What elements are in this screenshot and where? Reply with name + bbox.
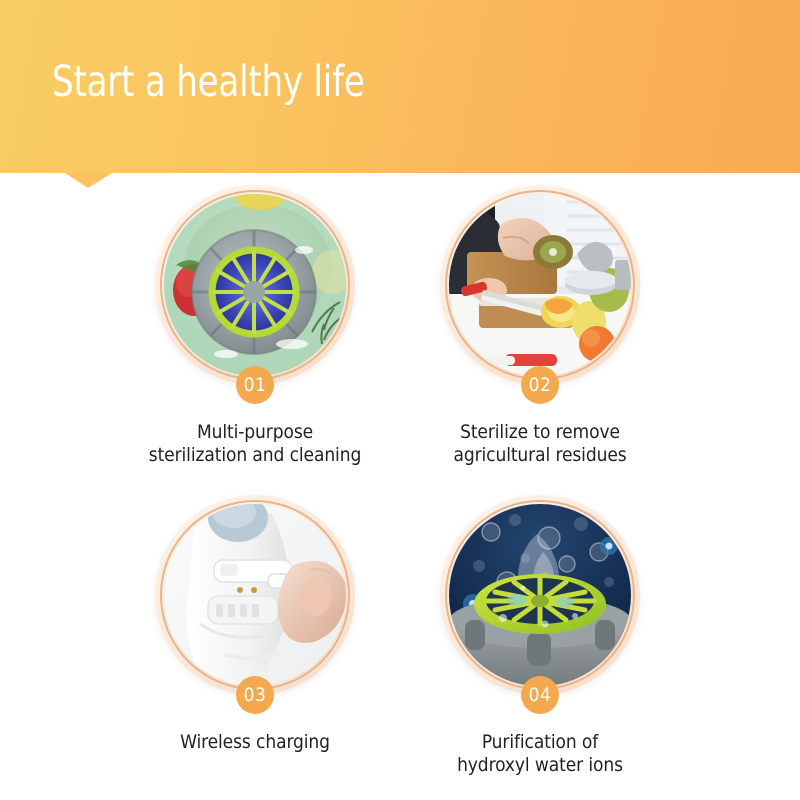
feature-caption-01: Multi-purpose sterilization and cleaning bbox=[105, 421, 405, 467]
caption-line-2: sterilization and cleaning bbox=[105, 444, 405, 467]
magnetic-charging-cable-photo bbox=[164, 504, 346, 686]
feature-badge-02: 02 bbox=[521, 366, 559, 404]
feature-card-01[interactable]: 01 Multi-purpose sterilization and clean… bbox=[105, 185, 405, 467]
caption-line-1: Wireless charging bbox=[105, 731, 405, 754]
feature-badge-01: 01 bbox=[236, 366, 274, 404]
caption-line-1: Multi-purpose bbox=[105, 421, 405, 444]
caption-line-1: Sterilize to remove bbox=[390, 421, 690, 444]
caption-line-2: hydroxyl water ions bbox=[390, 754, 690, 777]
feature-card-04[interactable]: 04 Purification of hydroxyl water ions bbox=[390, 495, 690, 777]
page-title: Start a healthy life bbox=[52, 56, 365, 108]
caption-line-2: agricultural residues bbox=[390, 444, 690, 467]
feature-caption-02: Sterilize to remove agricultural residue… bbox=[390, 421, 690, 467]
feature-circle-03: 03 bbox=[155, 495, 355, 695]
infographic-page: Start a healthy life bbox=[0, 0, 800, 800]
feature-card-02[interactable]: 02 Sterilize to remove agricultural resi… bbox=[390, 185, 690, 467]
feature-caption-03: Wireless charging bbox=[105, 731, 405, 754]
device-underwater-with-bubbles-photo bbox=[449, 504, 631, 686]
feature-badge-03: 03 bbox=[236, 676, 274, 714]
feature-circle-01: 01 bbox=[155, 185, 355, 385]
sterilizer-in-basin-of-vegetables-photo bbox=[164, 194, 346, 376]
feature-caption-04: Purification of hydroxyl water ions bbox=[390, 731, 690, 777]
caption-line-1: Purification of bbox=[390, 731, 690, 754]
feature-circle-04: 04 bbox=[440, 495, 640, 695]
feature-badge-04: 04 bbox=[521, 676, 559, 714]
feature-card-03[interactable]: 03 Wireless charging bbox=[105, 495, 405, 754]
kitchen-fruit-preparation-photo bbox=[449, 194, 631, 376]
header-banner: Start a healthy life bbox=[0, 0, 800, 173]
feature-grid: 01 Multi-purpose sterilization and clean… bbox=[0, 173, 800, 800]
feature-circle-02: 02 bbox=[440, 185, 640, 385]
